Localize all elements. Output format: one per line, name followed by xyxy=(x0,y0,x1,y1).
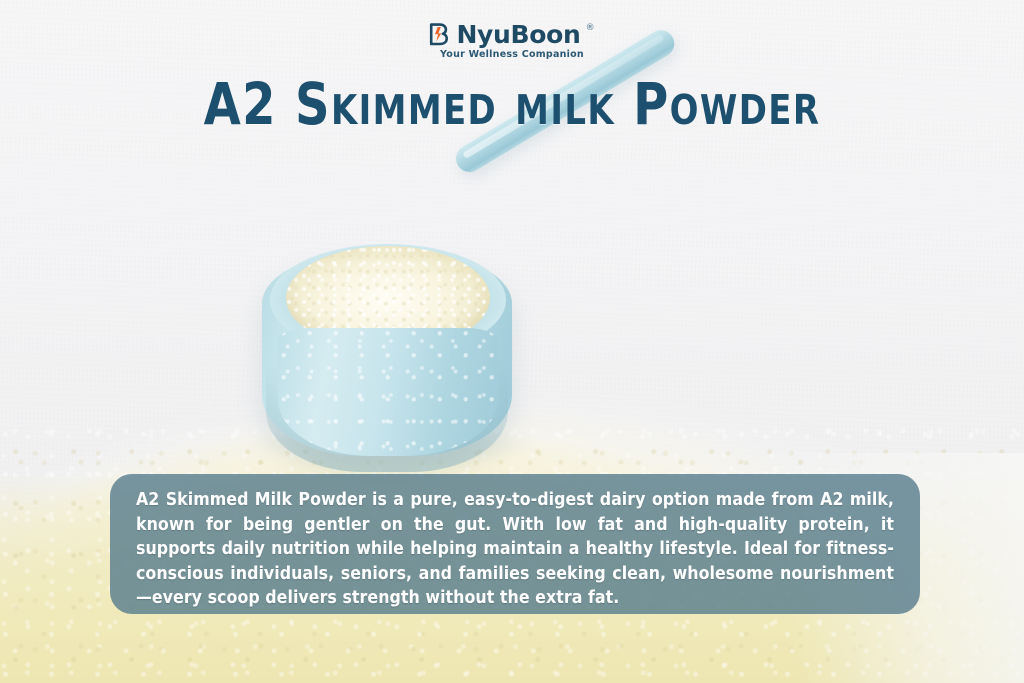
product-banner: NyuBoon ® Your Wellness Companion A2 Ski… xyxy=(0,0,1024,683)
brand-logo[interactable]: NyuBoon ® Your Wellness Companion xyxy=(0,22,1024,60)
scoop-powder-speckle xyxy=(278,328,498,456)
measuring-scoop xyxy=(262,232,532,457)
description-panel: A2 Skimmed Milk Powder is a pure, easy-t… xyxy=(110,474,920,614)
page-title: A2 Skimmed milk Powder xyxy=(41,74,983,135)
description-text: A2 Skimmed Milk Powder is a pure, easy-t… xyxy=(136,488,894,611)
registered-trademark-icon: ® xyxy=(586,23,595,33)
brand-tagline: Your Wellness Companion xyxy=(440,49,584,60)
brand-logo-row: NyuBoon ® xyxy=(429,22,594,47)
b-monogram-icon xyxy=(429,23,451,47)
brand-name: NyuBoon xyxy=(456,22,580,47)
